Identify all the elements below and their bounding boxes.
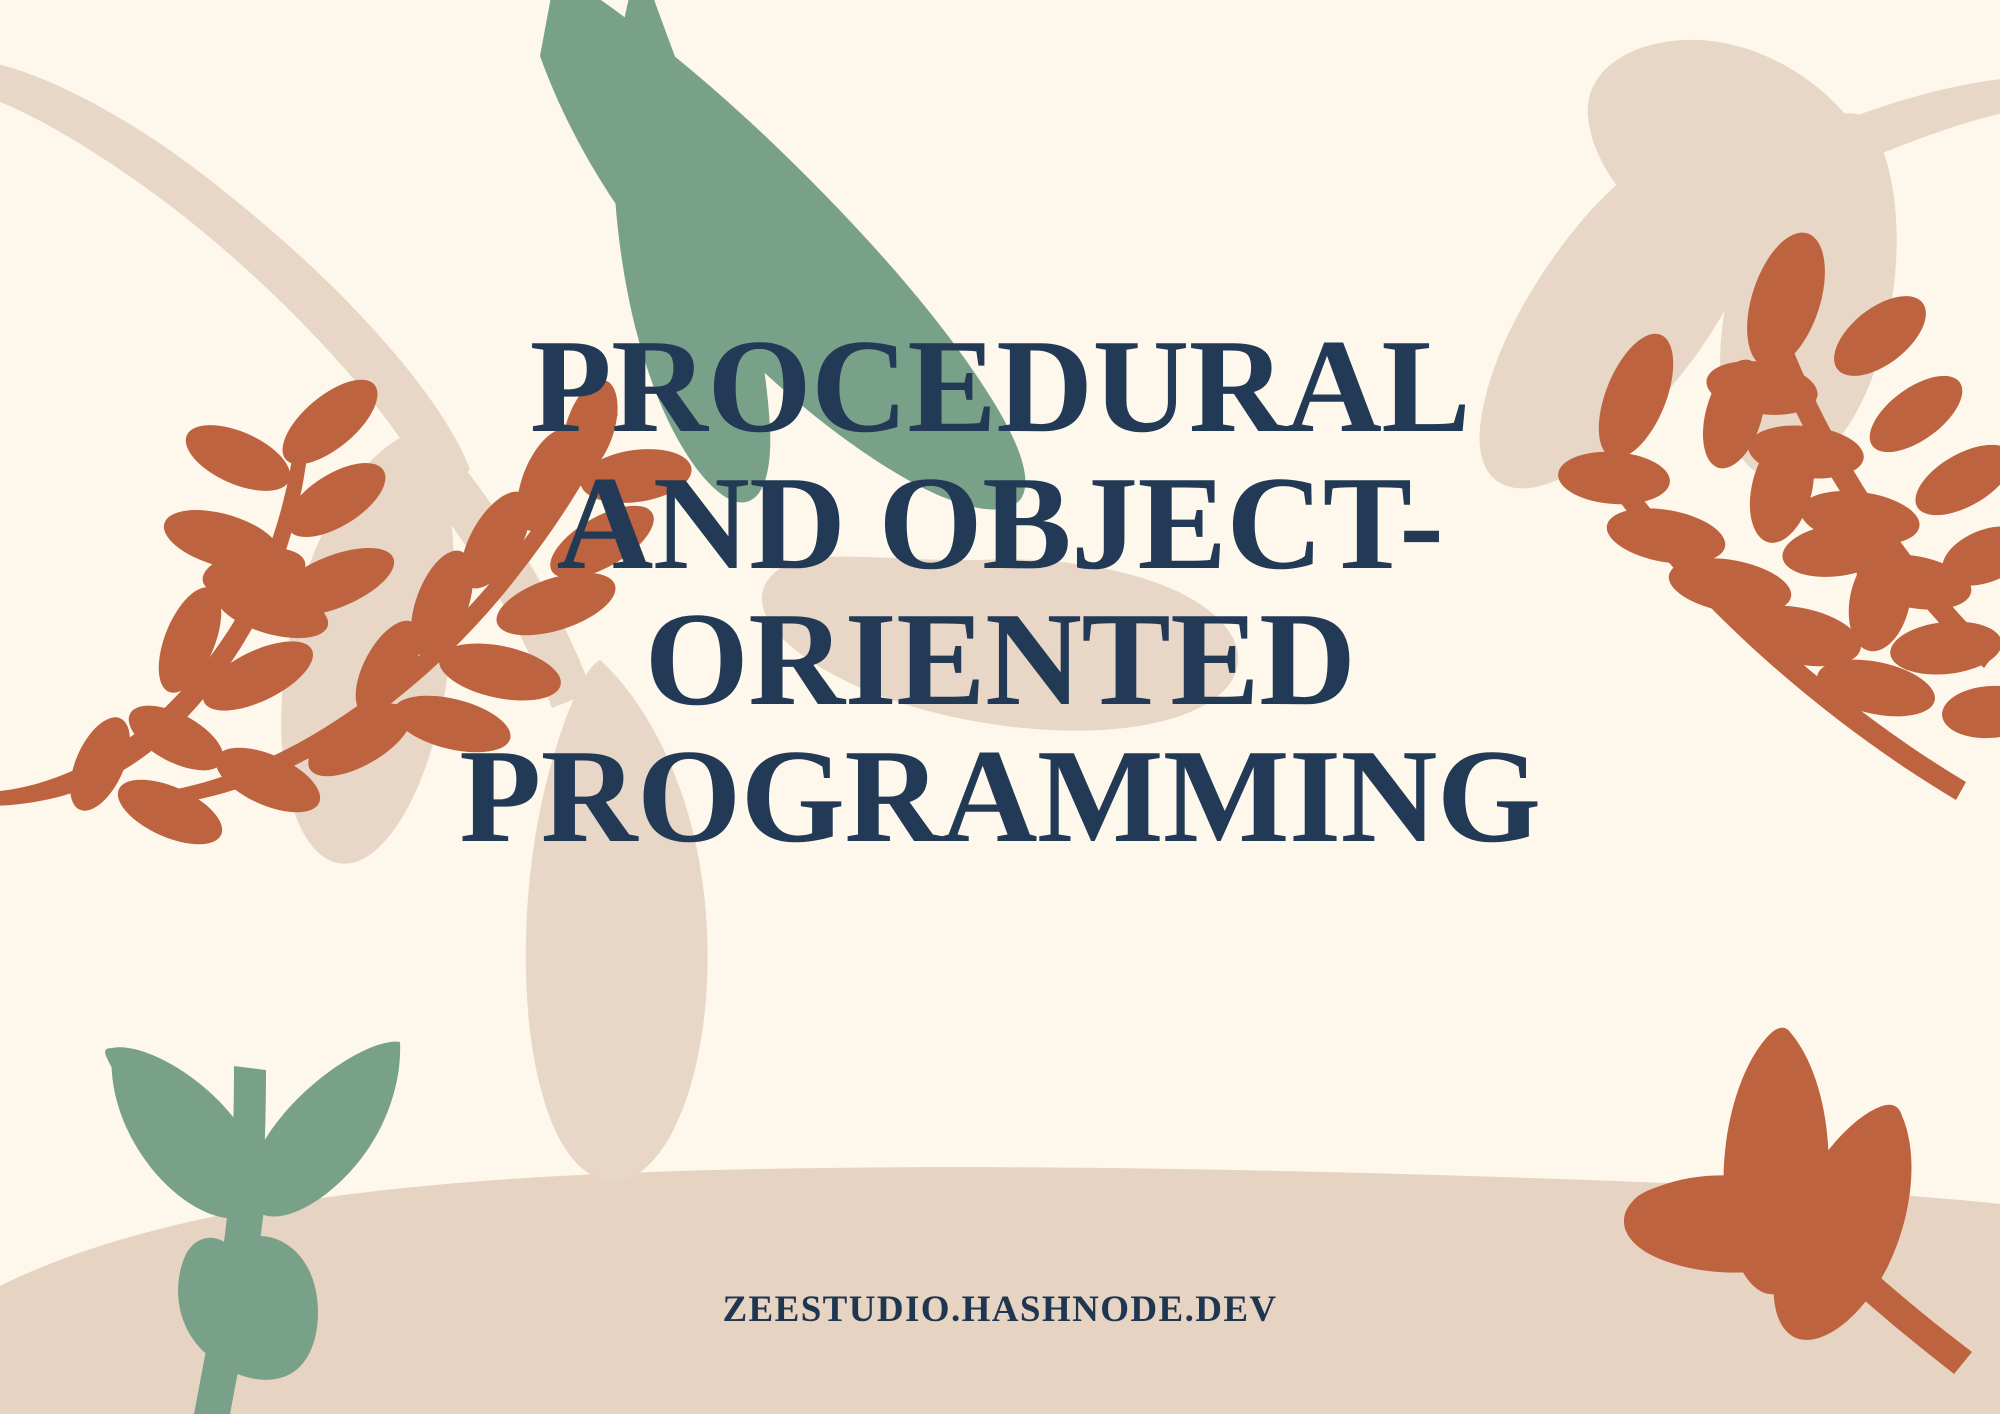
title-line-3: ORIENTED [300, 591, 1700, 728]
title-line-2: AND OBJECT- [300, 455, 1700, 592]
poster-canvas: PROCEDURAL AND OBJECT- ORIENTED PROGRAMM… [0, 0, 2000, 1414]
footer-url: ZEESTUDIO.HASHNODE.DEV [0, 1288, 2000, 1331]
title-line-4: PROGRAMMING [300, 728, 1700, 865]
title-line-1: PROCEDURAL [300, 318, 1700, 455]
poster-title: PROCEDURAL AND OBJECT- ORIENTED PROGRAMM… [300, 318, 1700, 865]
